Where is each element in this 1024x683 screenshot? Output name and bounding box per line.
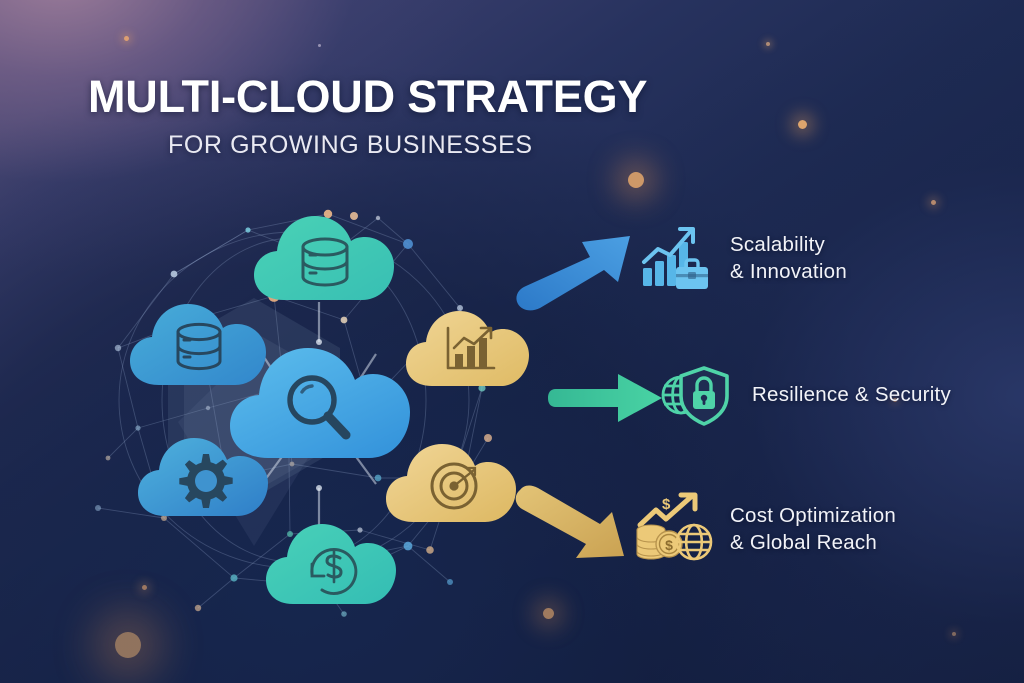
cloud-cluster bbox=[104, 192, 534, 622]
benefit-resilience[interactable]: Resilience & Security bbox=[658, 362, 951, 428]
svg-text:$: $ bbox=[662, 496, 671, 513]
infographic-poster: MULTI-CLOUD STRATEGY FOR GROWING BUSINES… bbox=[0, 0, 1024, 683]
coins-dollar-arrow-globe-icon: $ $ bbox=[636, 492, 714, 566]
bokeh-dot bbox=[124, 36, 129, 41]
bokeh-dot bbox=[543, 608, 554, 619]
bokeh-dot bbox=[798, 120, 807, 129]
bokeh-dot bbox=[115, 632, 141, 658]
benefit-label: Cost Optimization & Global Reach bbox=[730, 502, 896, 556]
arrow-up-right bbox=[512, 224, 638, 316]
benefit-label: Scalability & Innovation bbox=[730, 231, 847, 285]
cloud-cost-bottom[interactable] bbox=[262, 510, 404, 610]
benefit-label: Resilience & Security bbox=[752, 381, 951, 408]
benefit-scalability[interactable]: Scalability & Innovation bbox=[640, 222, 847, 294]
gear-icon bbox=[179, 454, 232, 508]
title-block: MULTI-CLOUD STRATEGY FOR GROWING BUSINES… bbox=[88, 74, 708, 158]
bar-chart-growth-briefcase-icon bbox=[640, 222, 712, 294]
arrow-down-right bbox=[512, 484, 640, 562]
central-cloud[interactable] bbox=[226, 334, 416, 466]
page-subtitle: FOR GROWING BUSINESSES bbox=[168, 133, 708, 158]
bokeh-dot bbox=[766, 42, 770, 46]
page-title: MULTI-CLOUD STRATEGY bbox=[88, 74, 708, 119]
globe-icon bbox=[677, 525, 711, 559]
bokeh-dot bbox=[318, 44, 321, 47]
globe-shield-lock-icon bbox=[658, 362, 734, 428]
bokeh-dot bbox=[628, 172, 644, 188]
bokeh-dot bbox=[952, 632, 956, 636]
bokeh-dot bbox=[931, 200, 936, 205]
svg-text:$: $ bbox=[665, 537, 673, 553]
arrow-right bbox=[548, 372, 666, 424]
benefit-cost[interactable]: $ $ Cost Optimization & Global Reach bbox=[636, 492, 896, 566]
